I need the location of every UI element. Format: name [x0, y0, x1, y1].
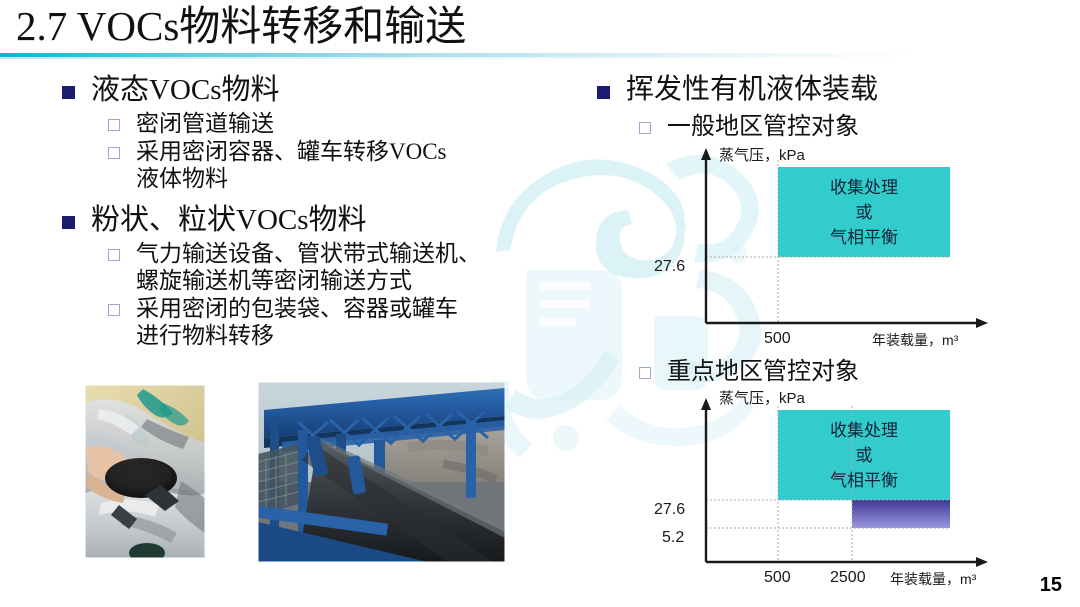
chart1-y-axis-label: 蒸气压，kPa: [719, 144, 805, 165]
chart2-x-axis-arrow: [976, 557, 988, 567]
square-bullet-icon: [597, 86, 610, 99]
chart1-y-tick-27-6: 27.6: [654, 258, 685, 276]
chart1-x-tick-500: 500: [764, 330, 791, 348]
general-area-chart: 蒸气压，kPa 27.6 500 年装载量，m³ 收集处理 或 气相平衡: [640, 142, 1010, 347]
hollow-square-bullet-icon: [639, 367, 651, 379]
bullet-volatile-organic-liquid-loading: 挥发性有机液体装载: [597, 72, 1067, 108]
chart2-x-tick-500: 500: [764, 569, 791, 587]
chart1-region-label-line3: 气相平衡: [830, 225, 898, 250]
bullet-powder-granular-vocs: 粉状、粒状VOCs物料: [62, 202, 582, 238]
slide-canvas: 2.7 VOCs物料转移和输送 液态VOCs物料 密闭管道输送 采用密闭容器、罐…: [0, 0, 1080, 607]
subbullet-text-cont: 进行物料转移: [136, 322, 458, 349]
hollow-square-bullet-icon: [639, 122, 651, 134]
square-bullet-icon: [62, 216, 75, 229]
subbullet-text: 一般地区管控对象: [667, 112, 859, 142]
bullet-liquid-vocs: 液态VOCs物料: [62, 72, 582, 108]
subbullet-text-cont: 螺旋输送机等密闭输送方式: [136, 267, 481, 294]
chart2-secondary-region: [852, 500, 950, 528]
square-bullet-icon: [62, 86, 75, 99]
hollow-square-bullet-icon: [108, 119, 120, 131]
chart1-region-label-line2: 或: [856, 200, 873, 225]
subbullet-text: 采用密闭容器、罐车转移VOCs: [136, 138, 447, 165]
subbullet-pneumatic-conveying: 气力输送设备、管状带式输送机、 螺旋输送机等密闭输送方式: [108, 240, 582, 294]
hollow-square-bullet-icon: [108, 304, 120, 316]
key-area-chart: 蒸气压，kPa 27.6 5.2 500 2500 年装载量，m³ 收集处理 或…: [640, 392, 1010, 597]
chart2-y-axis-arrow: [701, 398, 711, 410]
subbullet-text-cont: 液体物料: [136, 165, 447, 192]
subbullet-key-area: 重点地区管控对象: [639, 357, 1067, 387]
page-number: 15: [1040, 574, 1062, 597]
left-column: 液态VOCs物料 密闭管道输送 采用密闭容器、罐车转移VOCs 液体物料 粉状、…: [62, 72, 582, 350]
chart2-y-axis-label: 蒸气压，kPa: [719, 387, 805, 408]
chart1-x-axis-label: 年装载量，m³: [872, 330, 958, 350]
chart2-region-label-line2: 或: [856, 443, 873, 468]
subbullet-closed-pipeline: 密闭管道输送: [108, 110, 582, 137]
bullet-heading-text: 粉状、粒状VOCs物料: [91, 202, 367, 238]
chart1-x-axis-arrow: [976, 318, 988, 328]
subbullet-closed-packaging: 采用密闭的包装袋、容器或罐车 进行物料转移: [108, 295, 582, 349]
subbullet-closed-container: 采用密闭容器、罐车转移VOCs 液体物料: [108, 138, 582, 192]
chart1-y-axis-arrow: [701, 148, 711, 160]
chart2-region-label-line1: 收集处理: [830, 418, 898, 443]
subbullet-text: 采用密闭的包装袋、容器或罐车: [136, 295, 458, 322]
key-area-subheading-block: 重点地区管控对象: [597, 357, 1067, 388]
chart1-region-label: 收集处理 或 气相平衡: [778, 167, 950, 257]
chart2-y-tick-5-2: 5.2: [662, 529, 684, 547]
bullet-heading-text: 挥发性有机液体装载: [626, 72, 878, 108]
chart2-region-label: 收集处理 或 气相平衡: [778, 410, 950, 500]
subbullet-text: 气力输送设备、管状带式输送机、: [136, 240, 481, 267]
subbullet-text: 密闭管道输送: [136, 110, 274, 137]
right-column: 挥发性有机液体装载 一般地区管控对象: [597, 72, 1067, 143]
chart2-x-axis-label: 年装载量，m³: [890, 569, 976, 589]
tubular-belt-conveyor-photo: [258, 382, 505, 562]
title-underline-secondary: [0, 57, 1080, 59]
subbullet-text: 重点地区管控对象: [667, 357, 859, 387]
granular-vocs-material-photo: [85, 385, 205, 558]
chart2-y-tick-27-6: 27.6: [654, 501, 685, 519]
chart1-region-label-line1: 收集处理: [830, 175, 898, 200]
page-title: 2.7 VOCs物料转移和输送: [16, 2, 466, 50]
hollow-square-bullet-icon: [108, 147, 120, 159]
subbullet-general-area: 一般地区管控对象: [639, 112, 1067, 142]
chart2-x-tick-2500: 2500: [830, 569, 866, 587]
hollow-square-bullet-icon: [108, 249, 120, 261]
chart2-region-label-line3: 气相平衡: [830, 468, 898, 493]
bullet-heading-text: 液态VOCs物料: [91, 72, 280, 108]
